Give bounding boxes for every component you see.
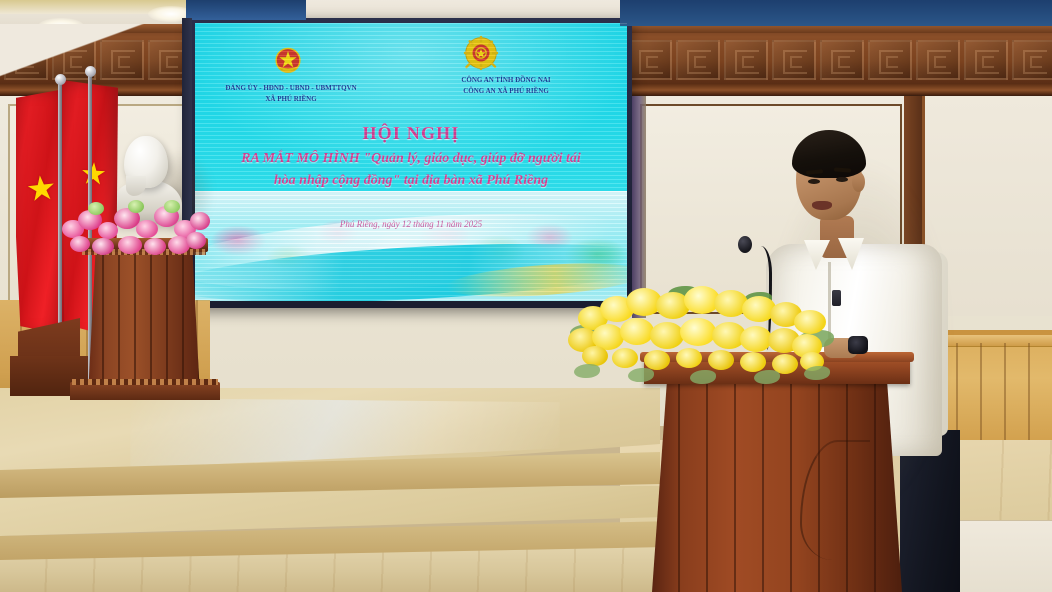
banner-header-left: ĐẢNG ỦY - HĐND - UBND - UBMTTQVN XÃ PHÚ … xyxy=(201,83,381,105)
speaker-eye xyxy=(836,177,848,182)
flag-pole-finial xyxy=(55,74,66,85)
speaker-mouth xyxy=(812,201,832,210)
pedestal-base-bead-moulding xyxy=(72,379,218,385)
flag-star-icon: ★ xyxy=(79,159,107,190)
flag-star-icon: ★ xyxy=(24,170,58,207)
greek-key-motif xyxy=(724,40,768,80)
greek-key-motif xyxy=(916,40,960,80)
vietnam-national-emblem-icon xyxy=(271,45,305,79)
speaker-eye xyxy=(808,179,820,184)
wooden-pedestal xyxy=(88,246,200,396)
vietnam-public-security-emblem-icon xyxy=(463,35,499,71)
banner-subtitle-line-2: hòa nhập cộng đồng" tại địa bàn xã Phú R… xyxy=(195,173,627,189)
upper-wall-sliver-right xyxy=(620,0,1052,26)
banner-date-line: Phú Riềng, ngày 12 tháng 11 năm 2025 xyxy=(195,219,627,229)
led-screen-bezel: ĐẢNG ỦY - HĐND - UBND - UBMTTQVN XÃ PHÚ … xyxy=(190,18,632,308)
greek-key-motif xyxy=(676,40,720,80)
flag-pole-finial xyxy=(85,66,96,77)
greek-key-motif xyxy=(964,40,1008,80)
banner-title: HỘI NGHỊ xyxy=(195,123,627,144)
yellow-flower-arrangement xyxy=(568,278,844,394)
greek-key-motif xyxy=(868,40,912,80)
led-screen: ĐẢNG ỦY - HĐND - UBND - UBMTTQVN XÃ PHÚ … xyxy=(195,23,627,301)
greek-key-motif xyxy=(100,40,144,80)
speaker-wristwatch xyxy=(848,336,868,354)
gooseneck-microphone-head xyxy=(738,236,752,253)
pedestal-slats xyxy=(88,246,200,396)
pink-flower-arrangement xyxy=(58,196,212,256)
banner-header-right: CÔNG AN TỈNH ĐỒNG NAI CÔNG AN XÃ PHÚ RIỀ… xyxy=(395,75,617,97)
greek-key-motif xyxy=(1012,40,1052,80)
upper-wall-sliver-left xyxy=(186,0,306,20)
banner-subtitle-line-1: RA MẮT MÔ HÌNH "Quản lý, giáo dục, giúp … xyxy=(195,151,627,167)
greek-key-motif xyxy=(4,40,48,80)
conference-hall-photo: ĐẢNG ỦY - HĐND - UBND - UBMTTQVN XÃ PHÚ … xyxy=(0,0,1052,592)
greek-key-motif xyxy=(820,40,864,80)
greek-key-motif xyxy=(628,40,672,80)
greek-key-motif xyxy=(772,40,816,80)
